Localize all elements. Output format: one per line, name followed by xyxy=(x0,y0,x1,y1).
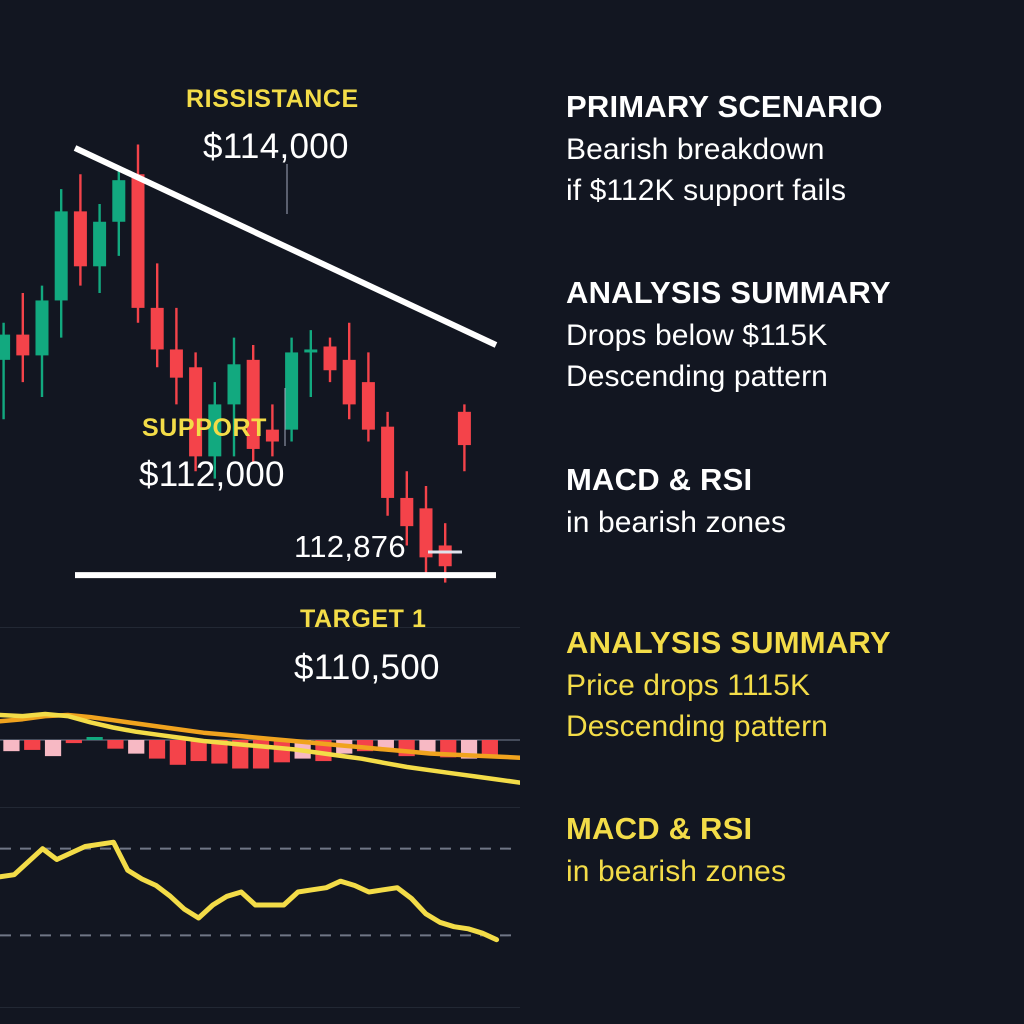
macd-histogram-bar xyxy=(274,740,290,762)
candle xyxy=(362,352,375,441)
macd-rsi-yellow-line-1: in bearish zones xyxy=(566,851,1006,892)
analysis-summary-yellow-line-1: Price drops 1115K xyxy=(566,665,1006,706)
target-label: TARGET 1 xyxy=(300,605,427,634)
candle xyxy=(189,352,202,471)
macd-histogram-bar xyxy=(170,740,186,765)
candle xyxy=(343,323,356,420)
macd-histogram-bar xyxy=(3,740,19,751)
analysis-summary-white-line-1: Drops below $115K xyxy=(566,315,1006,356)
primary-scenario-line-2: if $112K support fails xyxy=(566,170,1006,211)
candle xyxy=(247,345,260,464)
target-value: $110,500 xyxy=(294,648,440,688)
candle xyxy=(55,189,68,337)
block-primary-scenario: PRIMARY SCENARIO Bearish breakdown if $1… xyxy=(566,90,1006,212)
support-label: SUPPORT xyxy=(142,414,267,443)
last-price-tag: 112,876 xyxy=(294,529,406,565)
analysis-summary-yellow-heading: ANALYSIS SUMMARY xyxy=(566,626,1006,661)
candle xyxy=(132,145,145,323)
rsi-bottom-divider xyxy=(0,1007,520,1008)
primary-scenario-line-1: Bearish breakdown xyxy=(566,129,1006,170)
candle xyxy=(16,293,29,382)
price-candlestick-panel: RISSISTANCE $114,000 SUPPORT $112,000 11… xyxy=(0,0,520,627)
macd-panel xyxy=(0,627,520,807)
candle xyxy=(458,404,471,471)
analysis-summary-yellow-line-2: Descending pattern xyxy=(566,706,1006,747)
block-macd-rsi-white: MACD & RSI in bearish zones xyxy=(566,463,1006,543)
macd-histogram-bar xyxy=(66,740,82,743)
candle xyxy=(36,286,49,397)
candle xyxy=(381,412,394,516)
resistance-leader-tick xyxy=(286,164,288,214)
block-analysis-summary-white: ANALYSIS SUMMARY Drops below $115K Desce… xyxy=(566,276,1006,398)
candle xyxy=(324,338,337,383)
candle xyxy=(420,486,433,575)
candle xyxy=(74,174,87,285)
macd-histogram-bar xyxy=(482,740,498,756)
macd-histogram-bar xyxy=(128,740,144,754)
resistance-value: $114,000 xyxy=(203,127,349,167)
block-analysis-summary-yellow: ANALYSIS SUMMARY Price drops 1115K Desce… xyxy=(566,626,1006,748)
candle xyxy=(112,167,125,256)
text-column: PRIMARY SCENARIO Bearish breakdown if $1… xyxy=(566,0,1006,1024)
macd-histogram-bar xyxy=(87,737,103,740)
primary-scenario-heading: PRIMARY SCENARIO xyxy=(566,90,1006,125)
candle xyxy=(304,330,317,397)
macd-rsi-white-heading: MACD & RSI xyxy=(566,463,1006,498)
macd-rsi-white-line-1: in bearish zones xyxy=(566,502,1006,543)
rsi-line xyxy=(0,842,497,940)
macd-histogram-bar xyxy=(45,740,61,756)
chart-infographic: RISSISTANCE $114,000 SUPPORT $112,000 11… xyxy=(0,0,1024,1024)
support-leader-tick xyxy=(284,388,286,446)
resistance-label: RISSISTANCE xyxy=(186,85,359,114)
support-value: $112,000 xyxy=(139,455,285,495)
macd-histogram-bar xyxy=(107,740,123,749)
macd-plot xyxy=(0,627,520,807)
rsi-panel xyxy=(0,807,520,1007)
candle xyxy=(170,308,183,405)
block-macd-rsi-yellow: MACD & RSI in bearish zones xyxy=(566,812,1006,892)
candle xyxy=(93,204,106,293)
analysis-summary-white-heading: ANALYSIS SUMMARY xyxy=(566,276,1006,311)
analysis-summary-white-line-2: Descending pattern xyxy=(566,356,1006,397)
macd-histogram-bar xyxy=(24,740,40,750)
chart-column: RISSISTANCE $114,000 SUPPORT $112,000 11… xyxy=(0,0,520,1024)
macd-rsi-yellow-heading: MACD & RSI xyxy=(566,812,1006,847)
candle xyxy=(266,404,279,456)
candle xyxy=(285,338,298,442)
rsi-plot xyxy=(0,807,520,1007)
candle xyxy=(0,323,10,420)
macd-histogram-bar xyxy=(149,740,165,759)
candle xyxy=(151,263,164,367)
